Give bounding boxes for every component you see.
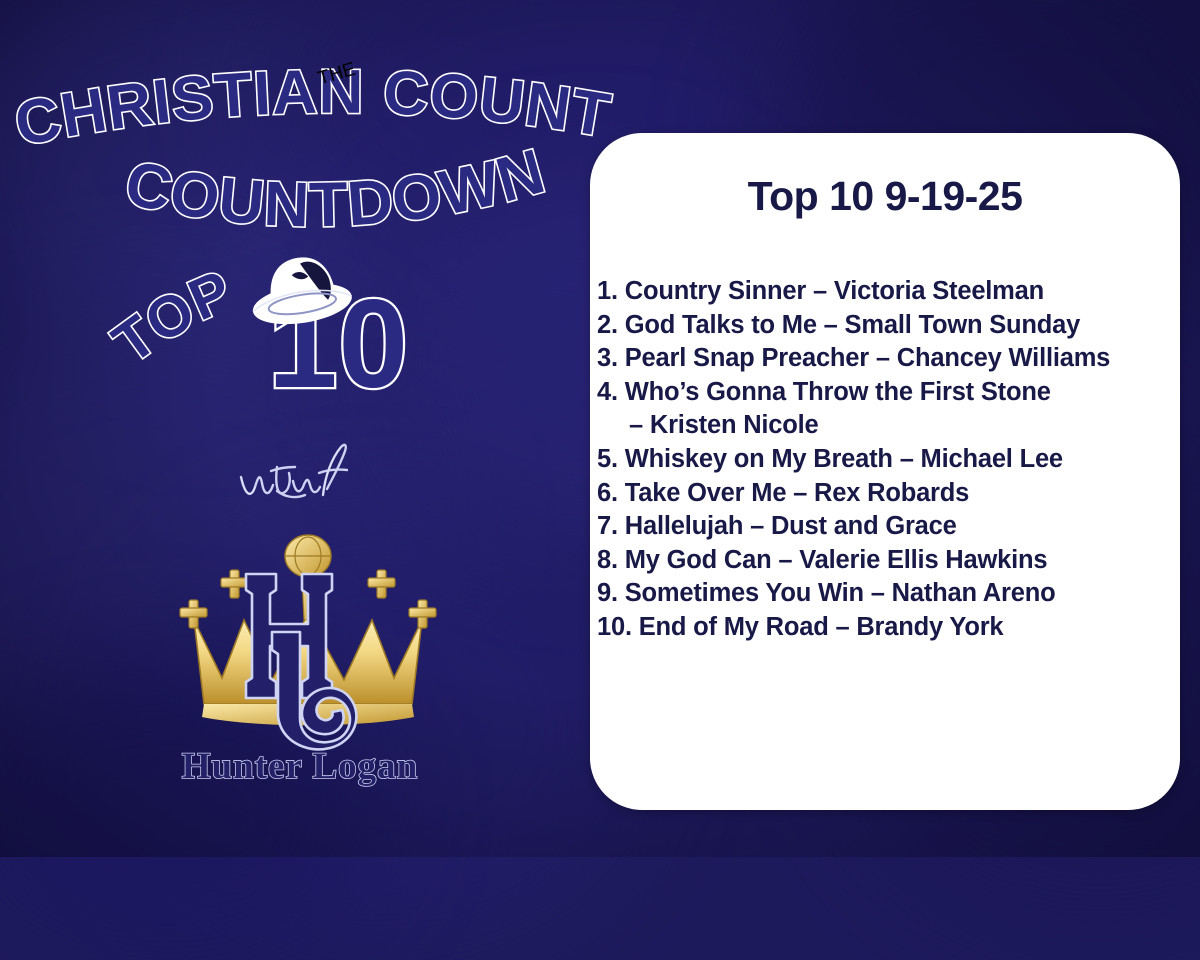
song-list-item: 8. My God Can – Valerie Ellis Hawkins [597,544,1176,578]
show-title-line-1-text: CHRISTIAN COUNTRY [0,5,616,160]
host-name-text: Hunter Logan [182,746,418,787]
song-list-item: 2. God Talks to Me – Small Town Sunday [597,309,1176,343]
branding-panel: CHRISTIAN COUNTRY THE COUNTDOWN TOP 10 [0,0,596,857]
song-list-item: 10. End of My Road – Brandy York [597,611,1176,645]
song-list-item: 1. Country Sinner – Victoria Steelman [597,275,1176,309]
song-list-item: 6. Take Over Me – Rex Robards [597,477,1176,511]
song-list-item-continuation: – Kristen Nicole [597,409,1176,443]
card-title: Top 10 9-19-25 [590,173,1180,220]
top10-card: Top 10 9-19-25 1. Country Sinner – Victo… [590,133,1180,810]
song-list-item: 7. Hallelujah – Dust and Grace [597,510,1176,544]
song-list-item: 4. Who’s Gonna Throw the First Stone [597,376,1176,410]
show-title-line-2-text: COUNTDOWN [119,136,553,241]
show-title-the-text: THE [316,59,358,90]
host-name: Hunter Logan [150,742,450,797]
svg-text:TOP: TOP [101,258,241,377]
song-list-item: 5. Whiskey on My Breath – Michael Lee [597,443,1176,477]
top-word-text: TOP [101,258,241,377]
with-word [233,437,361,517]
song-list-item: 3. Pearl Snap Preacher – Chancey William… [597,342,1176,376]
svg-text:CHRISTIAN COUNTRY: CHRISTIAN COUNTRY [0,5,616,160]
song-list: 1. Country Sinner – Victoria Steelman2. … [597,275,1176,645]
song-list-item: 9. Sometimes You Win – Nathan Areno [597,577,1176,611]
svg-text:COUNTDOWN: COUNTDOWN [119,136,553,241]
